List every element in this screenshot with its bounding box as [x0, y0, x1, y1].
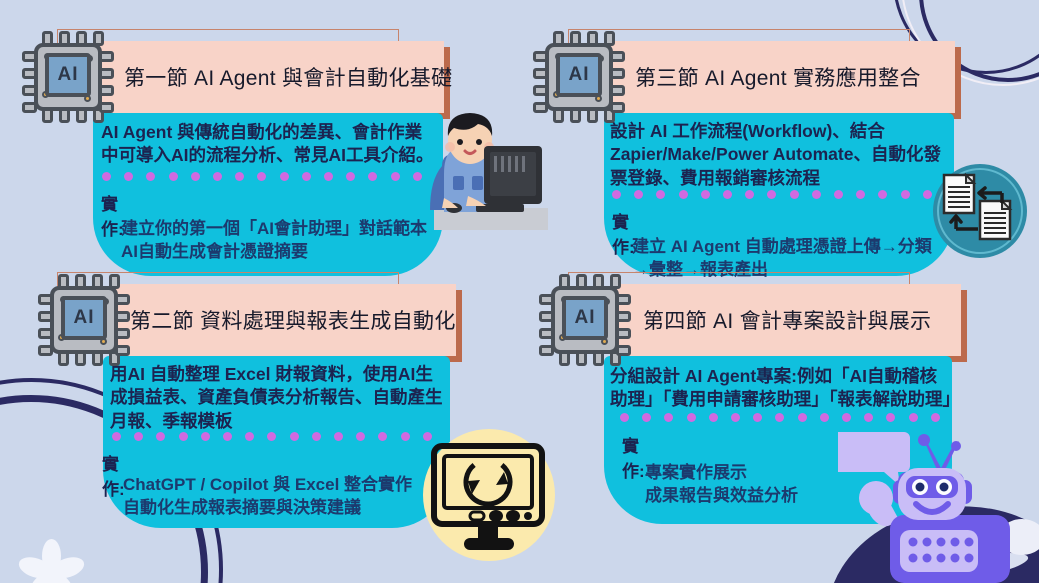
- document-exchange-circle-icon: [932, 163, 1028, 259]
- section-title-3: 第三節 AI Agent 實務應用整合: [635, 62, 921, 92]
- practice-items-2: ChatGPT / Copilot 與 Excel 整合實作 自動化生成報表摘要…: [123, 474, 443, 519]
- practice-label-2: 實作:: [102, 450, 125, 500]
- practice-items-1: 建立你的第一個「AI會計助理」對話範本 AI自動生成會計憑證摘要: [121, 218, 441, 263]
- dot-divider-1: [102, 172, 422, 181]
- section-header-4[interactable]: 第四節 AI 會計專案設計與展示: [617, 284, 961, 356]
- person-at-computer-illustration: [420, 104, 548, 230]
- section-title-4: 第四節 AI 會計專案設計與展示: [643, 305, 931, 335]
- ai-chip-icon-1: AI: [20, 29, 116, 125]
- section-header-3[interactable]: 第三節 AI Agent 實務應用整合: [611, 41, 955, 113]
- flower-decoration-icon: [16, 535, 86, 583]
- ai-chip-label-4: AI: [562, 296, 608, 340]
- ai-chip-icon-3: AI: [531, 29, 627, 125]
- ai-chip-label-1: AI: [45, 53, 91, 97]
- section-description-3: 設計 AI 工作流程(Workflow)、結合 Zapier/Make/Powe…: [610, 120, 954, 190]
- dot-divider-3: [612, 190, 932, 199]
- dot-divider-2: [112, 432, 432, 441]
- section-title-1: 第一節 AI Agent 與會計自動化基礎: [124, 62, 452, 92]
- practice-label-4: 實作:: [622, 432, 645, 482]
- section-header-1[interactable]: 第一節 AI Agent 與會計自動化基礎: [100, 41, 444, 113]
- ai-chip-label-3: AI: [556, 53, 602, 97]
- ai-chip-icon-2: AI: [36, 272, 132, 368]
- section-title-2: 第二節 資料處理與報表生成自動化: [130, 305, 456, 335]
- section-description-4: 分組設計 AI Agent專案:例如「AI自動稽核助理」「費用申請審核助理」「報…: [610, 365, 954, 412]
- monitor-refresh-circle-icon: [418, 424, 560, 566]
- robot-with-speech-bubble-illustration: [838, 420, 1038, 583]
- section-header-2[interactable]: 第二節 資料處理與報表生成自動化: [112, 284, 456, 356]
- slide-canvas: 第一節 AI Agent 與會計自動化基礎 AI Agent 與傳統自動化的差異…: [0, 0, 1039, 583]
- section-description-1: AI Agent 與傳統自動化的差異、會計作業中可導入AI的流程分析、常見AI工…: [101, 121, 436, 168]
- ai-chip-label-2: AI: [61, 296, 107, 340]
- section-description-2: 用AI 自動整理 Excel 財報資料，使用AI生成損益表、資產負債表分析報告、…: [110, 363, 448, 433]
- ai-chip-icon-4: AI: [537, 272, 633, 368]
